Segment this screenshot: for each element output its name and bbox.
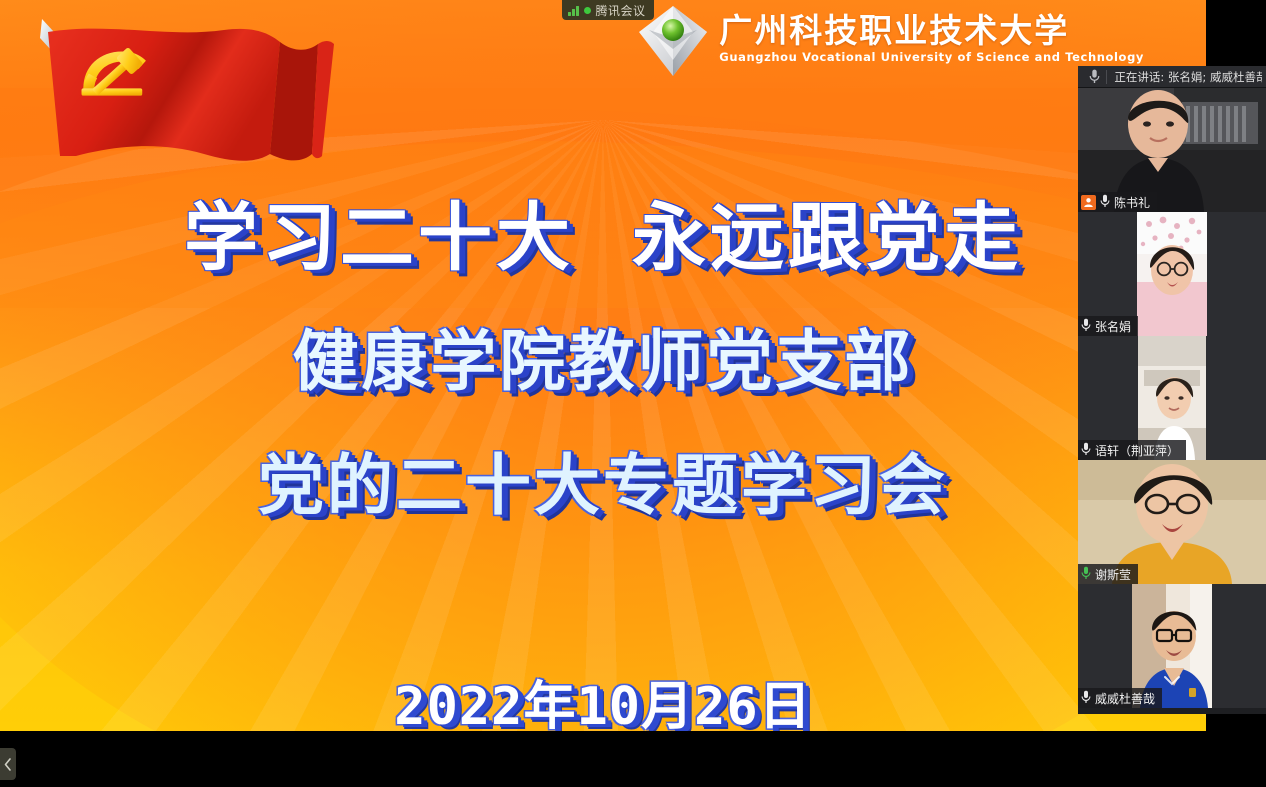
host-person-icon — [1081, 195, 1096, 210]
recording-dot-icon — [584, 7, 591, 14]
participant-tile[interactable]: 语轩（荆亚萍） — [1078, 336, 1266, 460]
chevron-down-icon[interactable] — [1163, 671, 1181, 690]
divider — [1106, 70, 1107, 84]
participant-name: 陈书礼 — [1114, 194, 1150, 211]
cpc-party-flag — [18, 4, 358, 179]
university-name-cn: 广州科技职业技术大学 — [719, 14, 1144, 47]
university-name-en: Guangzhou Vocational University of Scien… — [719, 52, 1144, 64]
shared-screen-slide[interactable]: 广州科技职业技术大学 Guangzhou Vocational Universi… — [0, 0, 1206, 731]
signal-bars-icon — [568, 5, 579, 16]
microphone-icon — [1100, 193, 1110, 212]
participant-name-chip: 陈书礼 — [1078, 192, 1157, 212]
participant-name-chip: 语轩（荆亚萍） — [1078, 440, 1186, 460]
microphone-icon — [1081, 689, 1091, 708]
microphone-icon — [1081, 441, 1091, 460]
participant-name: 威威杜善哉 — [1095, 690, 1155, 707]
participant-filmstrip[interactable]: 正在讲话: 张名娟; 威威杜善哉; — [1078, 66, 1266, 714]
participant-video — [1137, 212, 1207, 336]
participant-name-chip: 谢斯莹 — [1078, 564, 1138, 584]
microphone-icon — [1081, 317, 1091, 336]
university-branding: 广州科技职业技术大学 Guangzhou Vocational Universi… — [637, 4, 1144, 78]
tencent-meeting-badge[interactable]: 腾讯会议 — [562, 0, 654, 20]
participant-name-chip: 张名娟 — [1078, 316, 1138, 336]
meeting-screen: 广州科技职业技术大学 Guangzhou Vocational Universi… — [0, 0, 1266, 787]
participant-tile[interactable]: 威威杜善哉 — [1078, 584, 1266, 708]
headline-part-right: 永远跟党走 — [632, 195, 1022, 281]
participant-name: 语轩（荆亚萍） — [1095, 442, 1179, 459]
slide-subtitle-branch: 健康学院教师党支部 — [0, 308, 1206, 404]
participant-tile[interactable]: 张名娟 — [1078, 212, 1266, 336]
collapse-panel-button[interactable] — [0, 748, 16, 780]
letterbox-bottom — [0, 731, 1206, 787]
participant-tile[interactable]: 谢斯莹 — [1078, 460, 1266, 584]
active-speaker-text: 正在讲话: 张名娟; 威威杜善哉; — [1114, 69, 1262, 85]
participant-name-chip: 威威杜善哉 — [1078, 688, 1162, 708]
active-speaker-bar: 正在讲话: 张名娟; 威威杜善哉; — [1078, 66, 1266, 88]
slide-headline-main: 学习二十大永远跟党走 — [0, 178, 1206, 285]
participant-name: 张名娟 — [1095, 318, 1131, 335]
microphone-icon — [1081, 565, 1091, 584]
slide-subtitle-topic: 党的二十大专题学习会 — [0, 432, 1206, 528]
participant-name: 谢斯莹 — [1095, 566, 1131, 583]
microphone-icon — [1082, 69, 1106, 84]
slide-date: 2022年10月26日 — [0, 664, 1206, 731]
chevron-left-icon — [4, 758, 12, 771]
meeting-app-label: 腾讯会议 — [596, 2, 646, 19]
participant-tile[interactable]: 陈书礼 — [1078, 88, 1266, 212]
headline-part-left: 学习二十大 — [184, 195, 574, 281]
